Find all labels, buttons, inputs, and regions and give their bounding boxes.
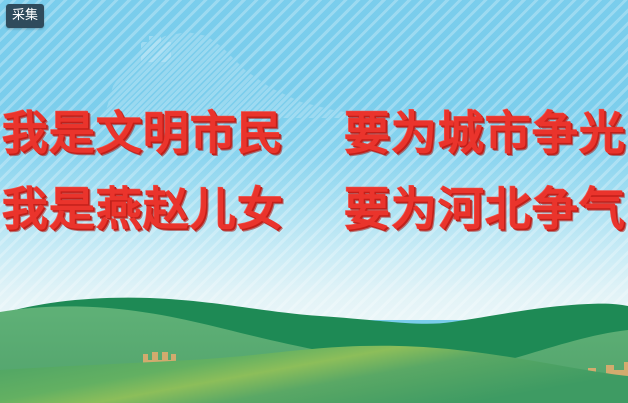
hill-front <box>0 340 628 403</box>
headline-line-1-left: 我是文明市民 <box>2 106 284 160</box>
banner-headline: 我是文明市民 要为城市争光 我是燕赵儿女 要为河北争气 <box>0 95 628 247</box>
headline-line-2: 我是燕赵儿女 要为河北争气 <box>0 171 628 247</box>
headline-line-2-right: 要为河北争气 <box>344 182 626 236</box>
headline-line-2-left: 我是燕赵儿女 <box>2 182 284 236</box>
headline-line-1-right: 要为城市争光 <box>344 106 626 160</box>
banner-screenshot: 我是文明市民 要为城市争光 我是燕赵儿女 要为河北争气 采集 <box>0 0 628 403</box>
capture-button[interactable]: 采集 <box>6 4 44 28</box>
headline-line-1: 我是文明市民 要为城市争光 <box>0 95 628 171</box>
